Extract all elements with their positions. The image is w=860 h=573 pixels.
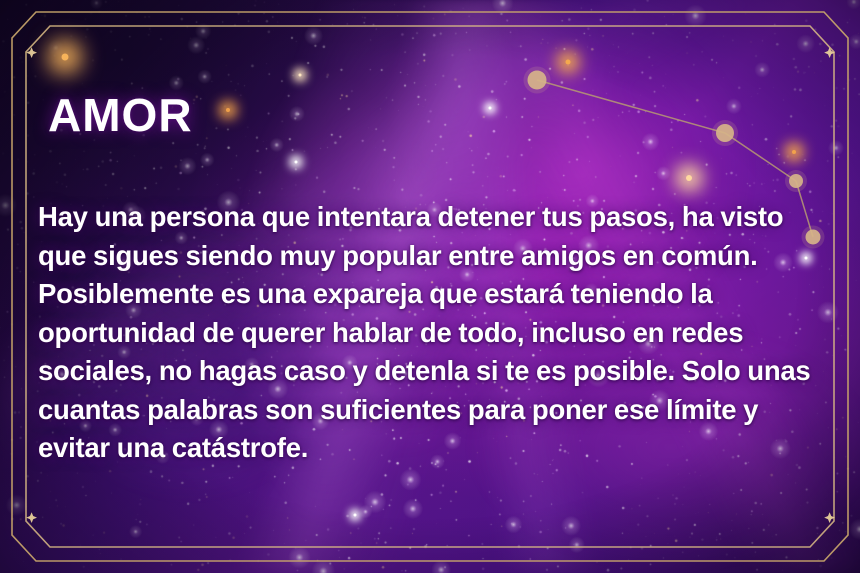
page-title: AMOR	[48, 92, 193, 138]
card-content: AMOR Hay una persona que intentara deten…	[0, 0, 860, 573]
horoscope-card: AMOR Hay una persona que intentara deten…	[0, 0, 860, 573]
horoscope-body-text: Hay una persona que intentara detener tu…	[38, 198, 824, 468]
